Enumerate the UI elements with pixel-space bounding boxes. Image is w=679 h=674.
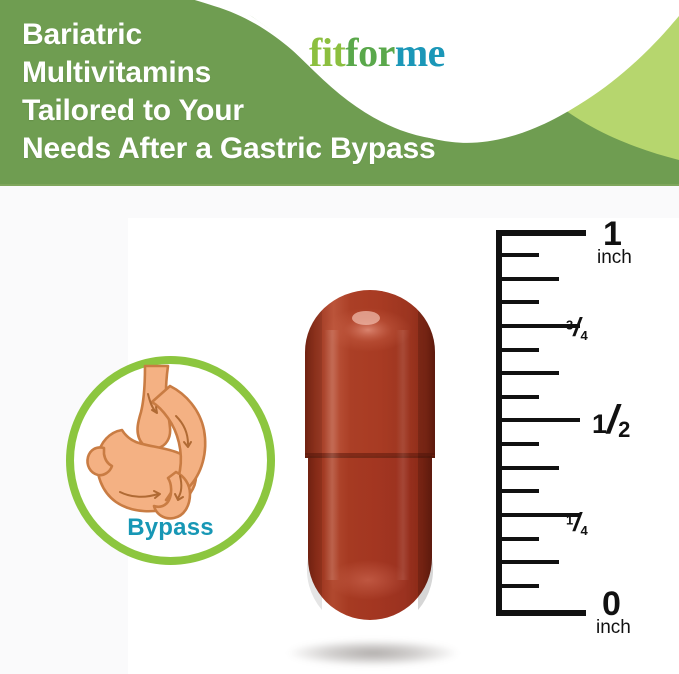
ruler-tick <box>501 277 559 281</box>
gastric-bypass-icon <box>84 364 259 524</box>
logo-part-fit: fit <box>309 30 345 75</box>
fraction-denominator: 4 <box>580 523 587 538</box>
ruler-tick <box>501 584 539 588</box>
capsule-shadow <box>288 640 458 666</box>
ruler-tick <box>501 537 539 541</box>
ruler-tick <box>501 395 539 399</box>
ruler-spine <box>496 230 502 616</box>
ruler-tick <box>501 489 539 493</box>
capsule-graphic <box>300 290 440 620</box>
ruler-tick <box>501 348 539 352</box>
bypass-badge: Bypass <box>66 356 275 565</box>
red-capsule <box>300 290 440 620</box>
ruler-bottom-cap <box>496 610 586 616</box>
fitforme-logo: fitforme <box>309 33 445 73</box>
fraction-slash: / <box>607 398 618 442</box>
ruler-tick <box>501 560 559 564</box>
header-divider <box>0 184 679 186</box>
ruler-label-one: 1 <box>603 217 622 251</box>
logo-part-for: for <box>345 30 395 75</box>
product-image: Bariatric Multivitamins Tailored to Your… <box>0 0 679 674</box>
ruler-tick <box>501 371 559 375</box>
ruler-fraction-one-half: 1/2 <box>592 398 630 443</box>
fraction-denominator: 2 <box>618 417 630 442</box>
logo-part-me: me <box>395 30 445 75</box>
ruler-tick <box>501 442 539 446</box>
ruler-tick <box>501 300 539 304</box>
ruler-scale: 1 inch 0 inch 3/4 1/2 1/4 <box>496 230 679 620</box>
badge-label: Bypass <box>66 514 275 542</box>
header-banner: Bariatric Multivitamins Tailored to Your… <box>0 0 679 186</box>
fraction-denominator: 4 <box>580 328 587 343</box>
ruler-tick <box>501 418 580 422</box>
ruler-tick <box>501 466 559 470</box>
ruler-fraction-one-quarter: 1/4 <box>566 507 588 538</box>
ruler-tick <box>501 253 539 257</box>
ruler-fraction-three-quarters: 3/4 <box>566 312 588 343</box>
ruler-top-cap <box>496 230 586 236</box>
ruler-unit-bottom: inch <box>596 618 631 637</box>
ruler-label-zero: 0 <box>602 587 621 621</box>
ruler-unit-top: inch <box>597 248 632 267</box>
page-title: Bariatric Multivitamins Tailored to Your… <box>22 16 542 168</box>
fraction-numerator: 1 <box>592 409 607 439</box>
